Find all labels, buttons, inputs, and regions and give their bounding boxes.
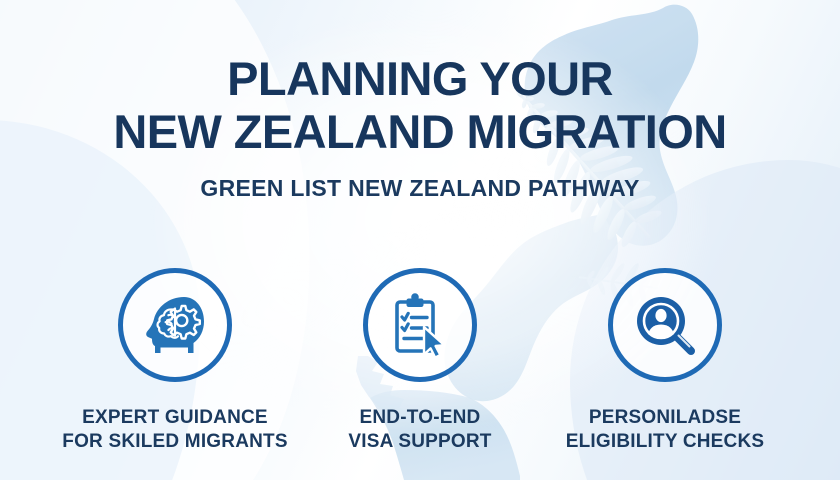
headline-block: PLANNING YOUR NEW ZEALAND MIGRATION GREE… (0, 52, 840, 202)
title-line-1: PLANNING YOUR (0, 52, 840, 105)
feature-icon-circle-2 (363, 268, 477, 382)
feature-expert-guidance: EXPERT GUIDANCE FOR SKILED MIGRANTS (53, 268, 298, 454)
feature-eligibility-checks: PERSONILADSE ELIGIBILITY CHECKS (543, 268, 788, 454)
subtitle: GREEN LIST NEW ZEALAND PATHWAY (0, 174, 840, 202)
clipboard-checklist-cursor-icon (383, 288, 457, 362)
feature-visa-support: END-TO-END VISA SUPPORT (298, 268, 543, 454)
title-line-2: NEW ZEALAND MIGRATION (0, 105, 840, 158)
feature-icon-circle-3 (608, 268, 722, 382)
feature-row: EXPERT GUIDANCE FOR SKILED MIGRANTS (0, 268, 840, 454)
head-brain-gear-icon (138, 288, 212, 362)
feature-label-1: EXPERT GUIDANCE FOR SKILED MIGRANTS (62, 406, 287, 454)
magnifier-person-icon (628, 288, 702, 362)
feature-label-3: PERSONILADSE ELIGIBILITY CHECKS (566, 406, 765, 454)
migration-banner: PLANNING YOUR NEW ZEALAND MIGRATION GREE… (0, 0, 840, 480)
feature-icon-circle-1 (118, 268, 232, 382)
feature-label-2: END-TO-END VISA SUPPORT (348, 406, 491, 454)
